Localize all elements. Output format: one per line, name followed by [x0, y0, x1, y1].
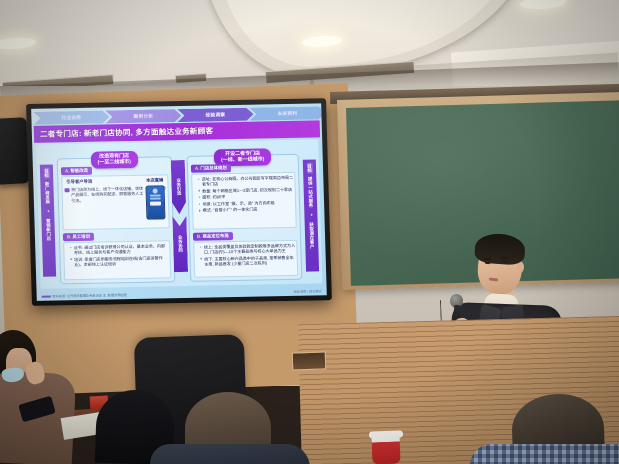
presenter-eye: [485, 262, 490, 264]
right-section-a-label: A.门店总体规划: [191, 164, 231, 173]
slide-page-mark: 经验洞察 / 商业模式: [293, 288, 321, 294]
presenter-hair: [474, 232, 526, 265]
quote-icon: [65, 188, 70, 192]
wall-niche: [292, 351, 327, 370]
phone-button: [150, 202, 161, 206]
slide: 行业态势 案例分析 经验洞察 未来预判 二者专门店: 新老门店协同, 多方面触达…: [31, 103, 327, 300]
breadcrumb-step-1[interactable]: 行业态势: [33, 110, 109, 124]
left-goal-header: 目标: [43, 168, 49, 179]
ceiling-light-icon: [520, 0, 567, 11]
footnote-text: 资料来源: 公开资料整理及专家访谈 注: 数据为预估值: [52, 293, 127, 298]
presenter-eye: [502, 261, 507, 263]
wall-speaker: [0, 117, 30, 185]
right-section-b-letter: B.: [197, 234, 202, 239]
audience-member-shoulders: [150, 444, 310, 464]
right-goal-text: 提供一站式服务 + 获取潜在客户: [307, 176, 314, 248]
left-section-a-label: A.智能改造: [61, 167, 92, 176]
left-section-a-content: 引导客户导流 本店直销 将门店改为线上、线下一体化店铺、实体产品展示、在线购买配…: [61, 174, 170, 230]
left-sub-right-head: 本店直销: [146, 177, 163, 183]
left-goal-text: 新厂商发展 + 营销新门店: [44, 181, 50, 240]
left-column-card: 改造现有门店 (一至二线城市) A.智能改造 引导客户导流 本店直销: [57, 156, 176, 284]
center-arrow-top-label: 业务引流: [176, 178, 181, 195]
right-section-a-content: 选址: 在核心公商圈、办公与园区写字楼周边布局二者专门店 数量: 每个网格区域1…: [191, 172, 297, 230]
left-section-b-content: 证书: 通过门店培训获得公司认证、基本业务、内部考核、线上服务与客户沟通能力 培…: [63, 240, 171, 280]
left-sub-left-head: 引导客户导流: [66, 179, 92, 185]
list-item: 证书: 通过门店培训获得公司认证、基本业务、内部考核、线上服务与客户沟通能力: [70, 243, 168, 255]
audience-member-shirt-plaid: [470, 444, 619, 464]
left-section-b-bullets: 证书: 通过门店培训获得公司认证、基本业务、内部考核、线上服务与客户沟通能力 培…: [65, 243, 169, 267]
lecture-hall-photo: 行业态势 案例分析 经验洞察 未来预判 二者专门店: 新老门店协同, 多方面触达…: [0, 0, 619, 464]
right-section-b-bullets: 线上: 全品类覆盖及体验款定制款等多品牌方式为入口, 门店约5—10个主要品类与…: [195, 243, 296, 267]
right-section-a-bullets: 选址: 在核心公商圈、办公与园区写字楼周边布局二者专门店 数量: 每个网格区域1…: [193, 175, 294, 214]
phone-mockup: [145, 185, 165, 219]
right-section-a-title: 门店总体规划: [200, 165, 227, 171]
right-section-a-letter: A.: [195, 166, 200, 171]
right-goal-sidebar: 目标 提供一站式服务 + 获取潜在客户: [303, 159, 319, 271]
left-goal-sidebar: 目标 新厂商发展 + 营销新门店: [40, 164, 56, 276]
right-section-b-label: B.商品定位布局: [193, 232, 233, 241]
right-section-b-title: 商品定位布局: [202, 233, 229, 239]
display-screen: 行业态势 案例分析 经验洞察 未来预判 二者专门店: 新老门店协同, 多方面触达…: [31, 103, 327, 300]
list-item: 培训: 季度门店用服务流程培训在线(含门店运营作业)、本部线上认证培训: [71, 255, 169, 267]
phone-line: [150, 195, 161, 197]
left-section-b-label: B.员工培训: [63, 233, 94, 242]
left-section-b-title: 员工培训: [72, 234, 90, 239]
breadcrumb-step-2[interactable]: 案例分析: [105, 109, 181, 123]
right-section-b-content: 线上: 全品类覆盖及体验款定制款等多品牌方式为入口, 门店约5—10个主要品类与…: [193, 240, 298, 278]
presentation-display[interactable]: 行业态势 案例分析 经验洞察 未来预判 二者专门店: 新老门店协同, 多方面触达…: [26, 98, 332, 306]
left-section-b-letter: B.: [67, 234, 72, 239]
left-section-a-letter: A.: [65, 168, 70, 173]
coffee-cup: [371, 434, 400, 464]
right-column-card: 开设二者专门店 (一线、新一线城市) A.门店总体规划 选址: 在核心公商圈、办…: [187, 154, 303, 282]
footnote-bar: [42, 296, 51, 299]
list-item: 线上: 全品类覆盖及体验款定制款等多品牌方式为入口, 门店约5—10个主要品类与…: [200, 243, 295, 255]
presenter-ear: [516, 262, 524, 274]
list-item: 选址: 在核心公商圈、办公与园区写字楼周边布局二者专门店: [198, 175, 293, 187]
slide-footnote: 资料来源: 公开资料整理及专家访谈 注: 数据为预估值: [42, 293, 127, 299]
ceiling-light-icon: [0, 36, 36, 50]
slide-body: 目标 新厂商发展 + 营销新门店 目标 提供一站式服务 + 获取潜在客户 改造现…: [36, 139, 322, 288]
list-item: 模式: "自营小厂" 的一体化门店: [199, 206, 294, 213]
center-arrow-bottom-label: 业务协同: [178, 235, 183, 252]
list-item: 线下: 主要核心新兴品类中的子品类, 按季销售全年主推, 新品首发 (少量门店二…: [201, 255, 296, 267]
breadcrumb-step-4[interactable]: 未来预判: [249, 106, 325, 120]
breadcrumb-step-3-active[interactable]: 经验洞察: [177, 108, 253, 122]
phone-line: [150, 198, 161, 200]
phone-avatar-icon: [153, 188, 158, 193]
right-goal-header: 目标: [306, 163, 312, 174]
left-section-a-text: 将门店改为线上、线下一体化店铺、实体产品展示、在线购买配送、顾客服务人工引流。: [71, 186, 144, 203]
center-arrow-bottom: 业务协同: [172, 216, 188, 272]
left-section-a-title: 智能改造: [70, 168, 88, 173]
